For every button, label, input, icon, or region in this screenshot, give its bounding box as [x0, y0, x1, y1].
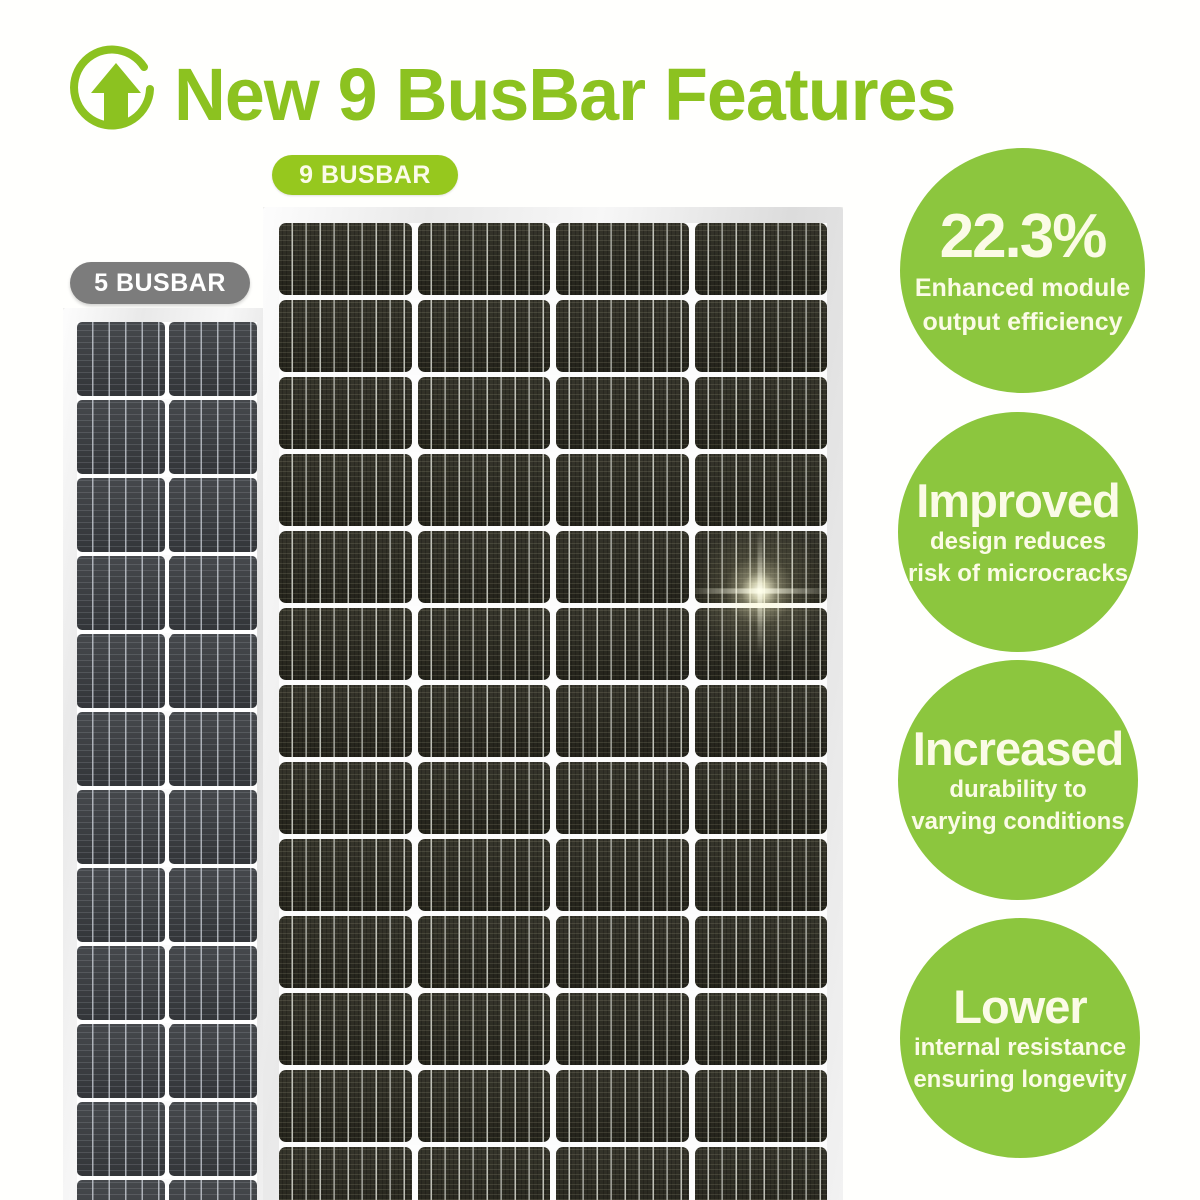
feature-sub-line-1: design reduces [930, 529, 1106, 556]
cell-grid-5-busbar [77, 322, 257, 1200]
solar-cell [169, 1024, 257, 1098]
upgrade-arrow-icon [66, 45, 166, 145]
solar-cell [418, 608, 551, 680]
solar-cell [556, 993, 689, 1065]
solar-cell [418, 454, 551, 526]
solar-cell [77, 478, 165, 552]
panel-glass [279, 223, 827, 1200]
solar-cell [695, 454, 828, 526]
solar-cell [418, 531, 551, 603]
solar-cell [279, 454, 412, 526]
solar-cell [418, 762, 551, 834]
solar-cell [169, 712, 257, 786]
feature-sub-line-1: internal resistance [914, 1035, 1126, 1062]
solar-cell [77, 790, 165, 864]
feature-badge-efficiency: 22.3% Enhanced module output efficiency [900, 148, 1145, 393]
solar-cell [695, 1070, 828, 1142]
solar-cell [695, 685, 828, 757]
solar-cell [279, 223, 412, 295]
solar-cell [77, 1024, 165, 1098]
solar-cell [695, 839, 828, 911]
cell-grid-9-busbar [279, 223, 827, 1200]
solar-cell [279, 839, 412, 911]
feature-badge-lower-resistance: Lower internal resistance ensuring longe… [900, 918, 1140, 1158]
badge-9-busbar: 9 BUSBAR [272, 155, 458, 195]
solar-cell [556, 916, 689, 988]
solar-cell [279, 377, 412, 449]
solar-cell [279, 531, 412, 603]
solar-cell [556, 300, 689, 372]
feature-badge-increased-durability: Increased durability to varying conditio… [898, 660, 1138, 900]
solar-cell [279, 1147, 412, 1200]
solar-cell [169, 1102, 257, 1176]
feature-headline: Lower [953, 983, 1086, 1030]
solar-cell [556, 454, 689, 526]
solar-cell [77, 712, 165, 786]
solar-cell [279, 300, 412, 372]
solar-cell [77, 1102, 165, 1176]
solar-cell [77, 400, 165, 474]
solar-panel-5-busbar [63, 308, 271, 1200]
solar-cell [695, 993, 828, 1065]
solar-cell [695, 1147, 828, 1200]
solar-cell [169, 478, 257, 552]
solar-cell [556, 1070, 689, 1142]
solar-cell [279, 608, 412, 680]
solar-cell [279, 685, 412, 757]
solar-cell [556, 608, 689, 680]
feature-sub-line-2: ensuring longevity [913, 1067, 1126, 1094]
solar-cell [695, 916, 828, 988]
solar-cell [556, 531, 689, 603]
solar-cell [169, 556, 257, 630]
solar-cell [556, 377, 689, 449]
solar-cell [279, 993, 412, 1065]
solar-cell [556, 762, 689, 834]
solar-cell [77, 1180, 165, 1200]
solar-cell [695, 531, 828, 603]
solar-cell [695, 762, 828, 834]
solar-cell [77, 322, 165, 396]
solar-cell [77, 946, 165, 1020]
solar-cell [169, 1180, 257, 1200]
solar-cell [169, 946, 257, 1020]
solar-cell [169, 322, 257, 396]
solar-cell [556, 839, 689, 911]
solar-cell [418, 300, 551, 372]
solar-cell [418, 993, 551, 1065]
solar-cell [169, 868, 257, 942]
solar-cell [77, 556, 165, 630]
page-title-row: New 9 BusBar Features [66, 34, 980, 156]
solar-cell [418, 1147, 551, 1200]
solar-cell [169, 400, 257, 474]
infographic-canvas: New 9 BusBar Features 9 BUSBAR 5 BUSBAR … [0, 0, 1200, 1200]
solar-cell [556, 223, 689, 295]
solar-cell [279, 1070, 412, 1142]
solar-cell [418, 377, 551, 449]
badge-5-busbar: 5 BUSBAR [70, 262, 250, 304]
solar-cell [418, 916, 551, 988]
feature-sub-line-1: durability to [949, 777, 1086, 804]
feature-headline: Improved [916, 477, 1120, 524]
feature-sub-line-2: varying conditions [911, 809, 1124, 836]
solar-panel-9-busbar [263, 207, 843, 1200]
solar-cell [556, 1147, 689, 1200]
solar-cell [695, 300, 828, 372]
solar-cell [77, 634, 165, 708]
solar-cell [695, 377, 828, 449]
feature-headline: Increased [913, 725, 1123, 772]
solar-cell [77, 868, 165, 942]
solar-cell [418, 685, 551, 757]
solar-cell [169, 634, 257, 708]
feature-headline: 22.3% [940, 206, 1106, 268]
solar-cell [169, 790, 257, 864]
solar-cell [418, 1070, 551, 1142]
feature-sub-line-2: risk of microcracks [908, 561, 1128, 588]
page-title: New 9 BusBar Features [174, 58, 955, 132]
solar-cell [556, 685, 689, 757]
feature-sub-line-1: Enhanced module [915, 274, 1130, 302]
panel-glass [77, 322, 257, 1200]
solar-cell [418, 223, 551, 295]
solar-cell [695, 223, 828, 295]
solar-cell [279, 762, 412, 834]
solar-cell [695, 608, 828, 680]
solar-cell [279, 916, 412, 988]
feature-badge-improved-design: Improved design reduces risk of microcra… [898, 412, 1138, 652]
feature-sub-line-2: output efficiency [922, 308, 1122, 336]
solar-cell [418, 839, 551, 911]
